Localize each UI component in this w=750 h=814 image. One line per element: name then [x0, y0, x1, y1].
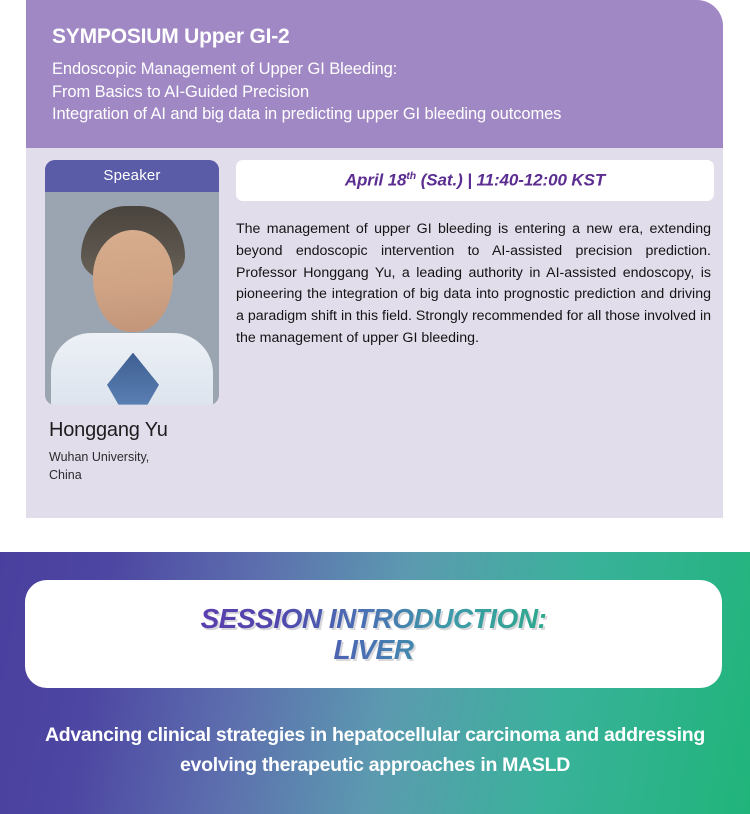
speaker-name: Honggang Yu [45, 419, 219, 442]
speaker-portrait-image [45, 192, 219, 405]
session-subtitle-line-2: From Basics to AI-Guided Precision [52, 81, 723, 103]
intro-title-line-1: SESSION INTRODUCTION: [201, 603, 547, 634]
speaker-badge: Speaker [45, 160, 219, 192]
session-introduction-section: SESSION INTRODUCTION: LIVER Advancing cl… [0, 552, 750, 814]
session-datetime-banner: April 18th (Sat.) | 11:40-12:00 KST [236, 160, 714, 202]
session-title: SYMPOSIUM Upper GI-2 [52, 24, 723, 50]
session-subtitle-line-3: Integration of AI and big data in predic… [52, 103, 723, 125]
speaker-column: Speaker Honggang Yu Wuhan University, Ch… [45, 160, 219, 484]
session-header: SYMPOSIUM Upper GI-2 Endoscopic Manageme… [26, 0, 723, 148]
date-ordinal: th [406, 170, 416, 182]
session-detail-column: April 18th (Sat.) | 11:40-12:00 KST The … [236, 160, 714, 350]
intro-title-line-2: LIVER [334, 634, 414, 665]
session-introduction-card: SESSION INTRODUCTION: LIVER [25, 580, 722, 688]
session-body: Speaker Honggang Yu Wuhan University, Ch… [26, 148, 723, 518]
date-suffix: (Sat.) | 11:40-12:00 KST [416, 170, 605, 189]
session-introduction-subtitle: Advancing clinical strategies in hepatoc… [30, 720, 720, 780]
session-introduction-title: SESSION INTRODUCTION: LIVER [201, 603, 547, 666]
session-subtitle-line-1: Endoscopic Management of Upper GI Bleedi… [52, 58, 723, 80]
session-card: SYMPOSIUM Upper GI-2 Endoscopic Manageme… [26, 0, 723, 518]
session-abstract: The management of upper GI bleeding is e… [236, 219, 714, 349]
speaker-photo-card: Speaker [45, 160, 219, 405]
date-prefix: April 18 [345, 170, 407, 189]
speaker-affiliation: Wuhan University, China [45, 448, 219, 484]
